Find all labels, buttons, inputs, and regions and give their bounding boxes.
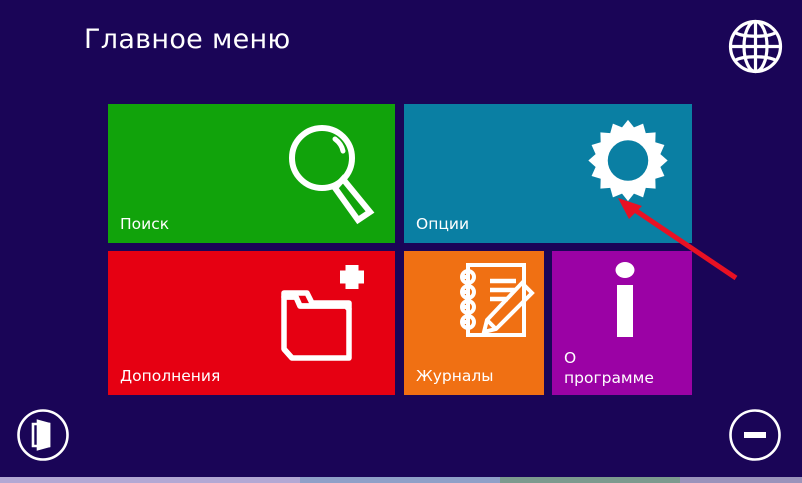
folder-plus-icon xyxy=(276,263,382,377)
tile-addons-label: Дополнения xyxy=(120,367,220,386)
tile-journals[interactable]: Журналы xyxy=(404,251,544,395)
globe-icon xyxy=(727,18,784,75)
language-globe-button[interactable] xyxy=(727,18,784,75)
exit-door-icon xyxy=(16,408,70,462)
notebook-pencil-icon xyxy=(452,259,536,353)
magnifier-icon xyxy=(280,116,380,230)
page-title: Главное меню xyxy=(84,24,291,55)
bottom-taskbar-strip xyxy=(0,477,802,483)
main-menu-screen: Главное меню Поиск xyxy=(0,0,802,483)
tile-options-label: Опции xyxy=(416,215,469,234)
info-i-icon xyxy=(602,261,648,343)
tile-options[interactable]: Опции xyxy=(404,104,692,243)
tile-journals-label: Журналы xyxy=(416,367,494,386)
tile-about[interactable]: О программе xyxy=(552,251,692,395)
exit-button[interactable] xyxy=(16,408,70,462)
minimize-button[interactable] xyxy=(728,408,782,462)
tile-search[interactable]: Поиск xyxy=(108,104,395,243)
tile-search-label: Поиск xyxy=(120,215,169,234)
tile-about-label: О программе xyxy=(564,348,654,388)
taskbar-segment xyxy=(680,477,802,483)
tile-addons[interactable]: Дополнения xyxy=(108,251,395,395)
taskbar-segment xyxy=(300,477,500,483)
taskbar-segment xyxy=(0,477,300,483)
minimize-icon xyxy=(728,408,782,462)
gear-icon xyxy=(582,118,674,214)
taskbar-segment xyxy=(500,477,680,483)
